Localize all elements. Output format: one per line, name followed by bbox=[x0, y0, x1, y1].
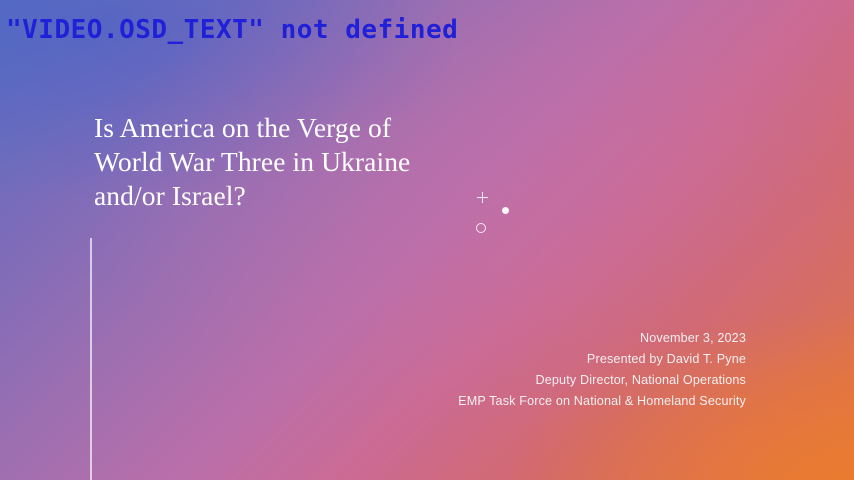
credits-organization: EMP Task Force on National & Homeland Se… bbox=[458, 391, 746, 412]
osd-error-text: "VIDEO.OSD_TEXT" not defined bbox=[6, 17, 458, 43]
credits-date: November 3, 2023 bbox=[458, 328, 746, 349]
outline-circle-icon bbox=[476, 223, 486, 233]
slide-credits: November 3, 2023 Presented by David T. P… bbox=[458, 328, 746, 412]
slide-title-line-3: and/or Israel? bbox=[94, 179, 524, 213]
slide-title-line-2: World War Three in Ukraine bbox=[94, 145, 524, 179]
video-slide-screen: "VIDEO.OSD_TEXT" not defined Is America … bbox=[0, 0, 854, 480]
vertical-accent-rule bbox=[90, 238, 92, 480]
credits-role: Deputy Director, National Operations bbox=[458, 370, 746, 391]
slide-title-line-1: Is America on the Verge of bbox=[94, 111, 524, 145]
credits-presenter: Presented by David T. Pyne bbox=[458, 349, 746, 370]
slide-title: Is America on the Verge of World War Thr… bbox=[94, 111, 524, 213]
